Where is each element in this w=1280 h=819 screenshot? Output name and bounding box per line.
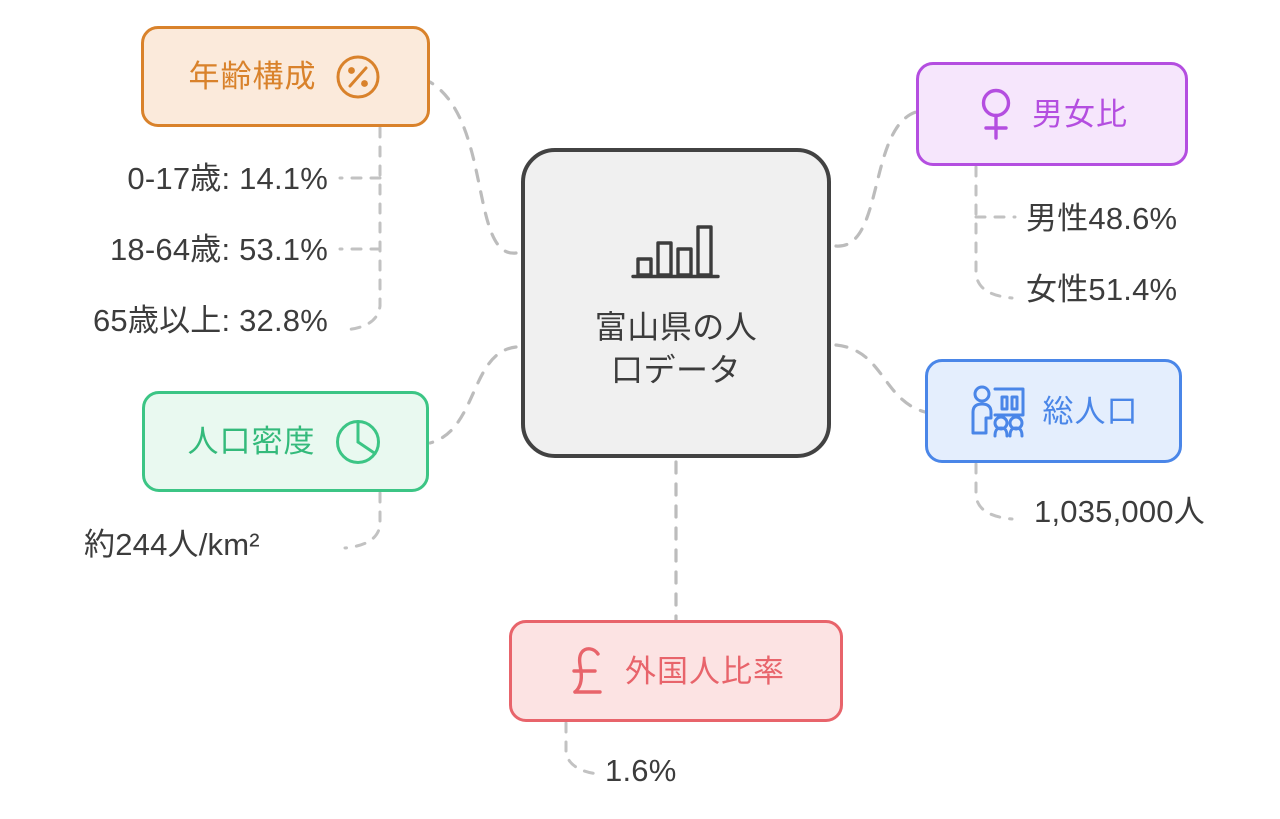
branch-node-density[interactable]: 人口密度: [142, 391, 429, 492]
branch-node-age[interactable]: 年齢構成: [141, 26, 430, 127]
connector-center-to-density: [430, 347, 516, 443]
people-presentation-icon: [969, 384, 1027, 438]
percent-circle-icon: [333, 52, 383, 102]
connector-density-leaf: [345, 493, 380, 548]
branch-node-gender-label: 男女比: [1032, 99, 1128, 130]
connector-center-to-age: [430, 82, 516, 253]
gender-value-male: 男性48.6%: [1026, 203, 1177, 234]
connector-center-to-total: [836, 345, 925, 412]
pie-chart-icon: [332, 416, 384, 468]
female-symbol-icon: [976, 86, 1016, 142]
connector-foreign-leaf: [566, 723, 598, 774]
total-population-value: 1,035,000人: [1034, 496, 1205, 527]
gender-value-female: 女性51.4%: [1026, 274, 1177, 305]
branch-node-density-label: 人口密度: [188, 426, 316, 457]
foreign-ratio-value: 1.6%: [605, 755, 676, 786]
connector-total-leaf: [976, 464, 1012, 519]
age-value-0: 0-17歳: 14.1%: [127, 163, 328, 194]
center-node[interactable]: 富山県の人 口データ: [521, 148, 831, 458]
branch-node-gender[interactable]: 男女比: [916, 62, 1188, 166]
age-value-1: 18-64歳: 53.1%: [110, 234, 328, 265]
mindmap-canvas: 富山県の人 口データ 年齢構成 0-17歳: 14.1% 18-64歳: 53.…: [0, 0, 1280, 819]
pound-sterling-icon: [567, 643, 609, 699]
connector-center-to-gender: [836, 112, 916, 246]
density-value: 約244人/km²: [84, 529, 260, 560]
connector-gender-spine: [976, 167, 1012, 298]
branch-node-foreign[interactable]: 外国人比率: [509, 620, 843, 722]
branch-node-age-label: 年齢構成: [189, 61, 317, 92]
center-node-label: 富山県の人 口データ: [571, 306, 781, 391]
branch-node-total[interactable]: 総人口: [925, 359, 1182, 463]
branch-node-foreign-label: 外国人比率: [625, 656, 785, 687]
bar-chart-icon: [628, 215, 724, 292]
branch-node-total-label: 総人口: [1043, 396, 1139, 427]
age-value-2: 65歳以上: 32.8%: [93, 305, 328, 336]
connector-age-spine: [345, 128, 380, 330]
